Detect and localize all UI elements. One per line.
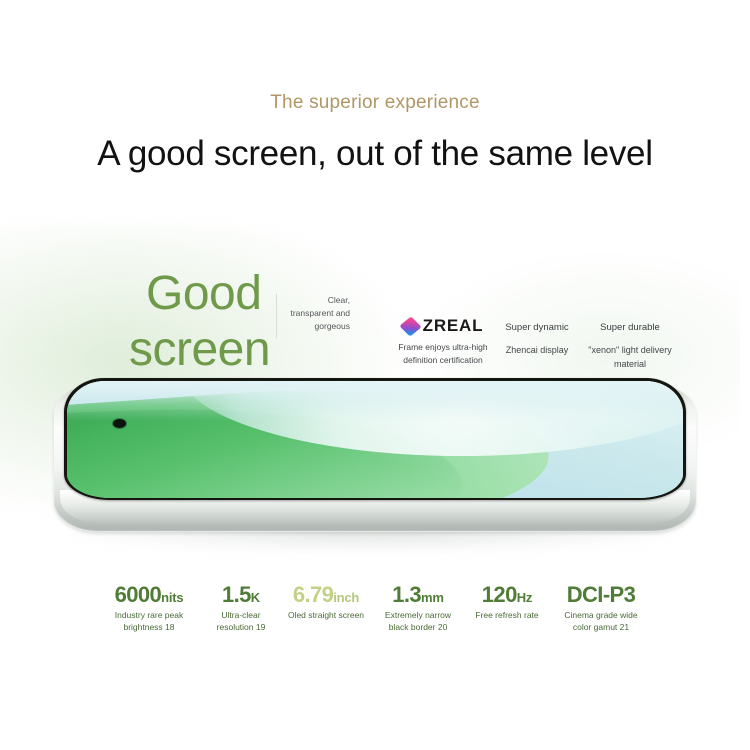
spec-value-resolution: 1.5K [207, 584, 275, 606]
badge-super-durable-title: Super durable [576, 321, 684, 334]
zreal-description: Frame enjoys ultra-high definition certi… [388, 341, 498, 367]
spec-item-refresh: 120Hz Free refresh rate [465, 584, 549, 621]
badge-super-dynamic-body: Zhencai display [498, 344, 576, 358]
badge-zreal: ZREAL Frame enjoys ultra-high definition… [388, 316, 498, 371]
zreal-diamond-icon [399, 316, 421, 336]
spec-item-border: 1.3mm Extremely narrow black border 20 [371, 584, 465, 634]
phone-bezel [64, 378, 686, 500]
zreal-wordmark: ZREAL [423, 316, 484, 336]
zreal-logo: ZREAL [388, 316, 498, 336]
spec-value-border: 1.3mm [377, 584, 459, 606]
punch-hole-camera-icon [113, 419, 126, 428]
spec-value-size: 6.79inch [287, 584, 365, 606]
page-title: A good screen, out of the same level [0, 134, 750, 174]
badge-super-dynamic: Super dynamic Zhencai display [498, 316, 576, 371]
hero-caption: Clear, transparent and gorgeous [276, 294, 350, 338]
spec-row: 6000nits Industry rare peak brightness 1… [0, 584, 750, 634]
eyebrow-text: The superior experience [0, 92, 750, 114]
phone-device [44, 378, 706, 558]
spec-item-gamut: DCI-P3 Cinema grade wide color gamut 21 [549, 584, 653, 634]
spec-item-resolution: 1.5K Ultra-clear resolution 19 [201, 584, 281, 634]
spec-caption-border: Extremely narrow black border 20 [377, 609, 459, 634]
badge-super-durable-body: "xenon" light delivery material [576, 344, 684, 371]
badge-super-durable: Super durable "xenon" light delivery mat… [576, 316, 684, 371]
spec-caption-gamut: Cinema grade wide color gamut 21 [555, 609, 647, 634]
page-header: The superior experience A good screen, o… [0, 0, 750, 174]
spec-number: 1.3 [392, 582, 421, 607]
spec-unit: nits [161, 590, 183, 605]
spec-value-brightness: 6000nits [103, 584, 195, 606]
spec-unit: inch [333, 590, 359, 605]
badge-cluster: ZREAL Frame enjoys ultra-high definition… [388, 316, 684, 371]
screen-gloss [67, 381, 683, 404]
spec-number: 120 [482, 582, 517, 607]
hero-big-word-line1: Good [146, 270, 261, 318]
spec-number: 1.5 [222, 582, 251, 607]
spec-number: 6000 [115, 582, 162, 607]
spec-caption-refresh: Free refresh rate [471, 609, 543, 621]
spec-caption-brightness: Industry rare peak brightness 18 [103, 609, 195, 634]
spec-item-brightness: 6000nits Industry rare peak brightness 1… [97, 584, 201, 634]
spec-unit: K [251, 590, 260, 605]
spec-value-refresh: 120Hz [471, 584, 543, 606]
spec-number: DCI-P3 [567, 582, 636, 607]
spec-value-gamut: DCI-P3 [555, 584, 647, 606]
spec-number: 6.79 [293, 582, 333, 607]
spec-unit: Hz [517, 590, 533, 605]
phone-screen [67, 381, 683, 498]
spec-unit: mm [421, 590, 444, 605]
spec-caption-size: Oled straight screen [287, 609, 365, 621]
badge-super-dynamic-title: Super dynamic [498, 321, 576, 334]
hero-big-word-line2: screen [129, 326, 270, 374]
spec-item-size: 6.79inch Oled straight screen [281, 584, 371, 621]
spec-caption-resolution: Ultra-clear resolution 19 [207, 609, 275, 634]
